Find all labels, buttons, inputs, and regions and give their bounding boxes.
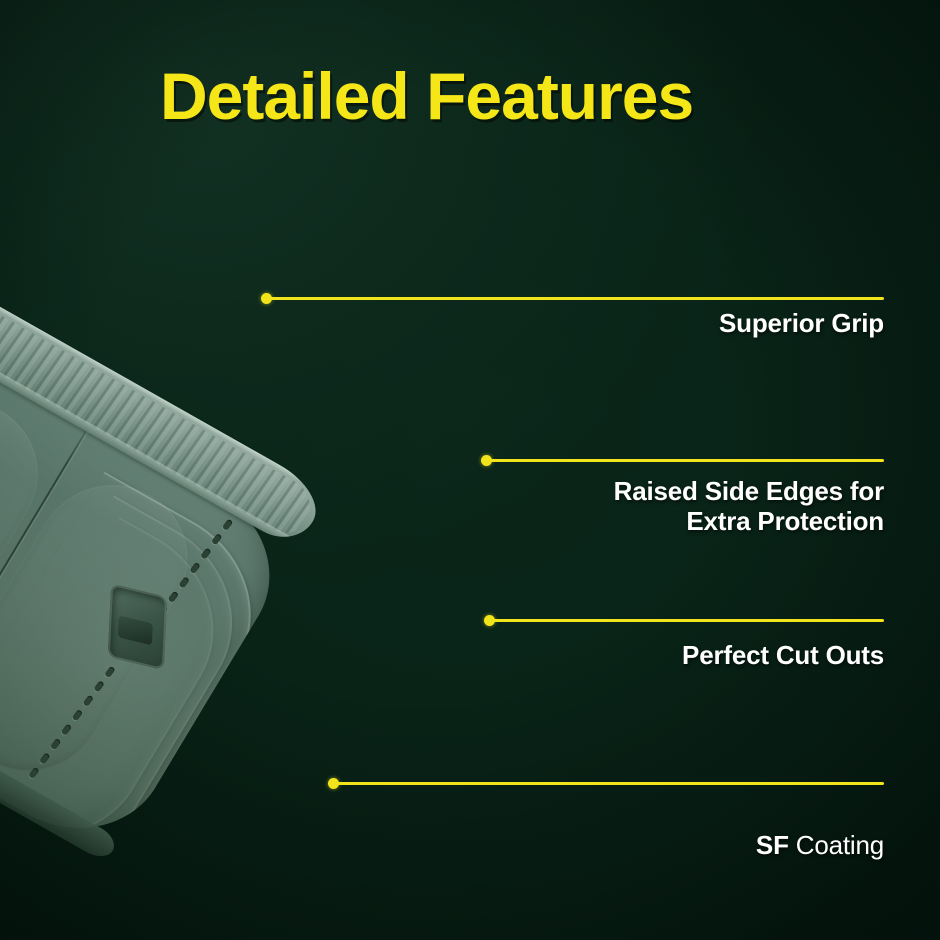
speaker-holes [157,519,234,618]
sf-coating-rest-text: Coating [789,830,884,860]
product-feature-infographic: Detailed Features [0,0,940,940]
phone-case [0,120,331,863]
callout-line-superior-grip [270,297,884,300]
callout-label-raised-side-edges: Raised Side Edges for Extra Protection [614,476,884,537]
charging-port-cutout [108,584,167,671]
callout-label-sf-coating: SF Coating [756,800,884,861]
callout-line-raised-side-edges [490,459,884,462]
sf-coating-bold-text: SF [756,830,789,860]
product-image [0,120,590,940]
callout-line-perfect-cut-outs [493,619,884,622]
callout-label-perfect-cut-outs: Perfect Cut Outs [682,640,884,670]
callout-label-superior-grip: Superior Grip [719,308,884,338]
callout-line-sf-coating [337,782,884,785]
